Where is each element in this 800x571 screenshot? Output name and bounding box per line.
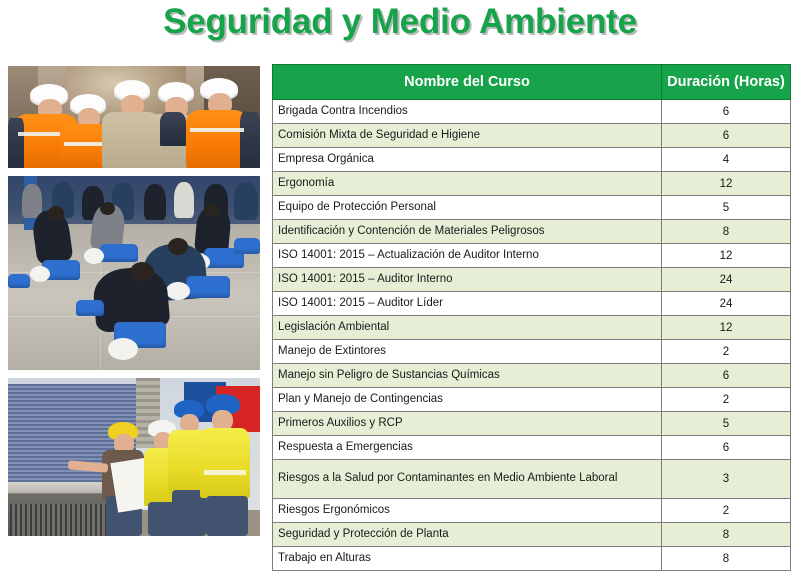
table-row: Brigada Contra Incendios 6 bbox=[273, 100, 791, 124]
photo-site-inspection bbox=[8, 378, 260, 536]
photo-cpr-training bbox=[8, 176, 260, 370]
course-hours: 2 bbox=[662, 388, 791, 412]
course-name: Respuesta a Emergencias bbox=[273, 436, 662, 460]
course-hours: 8 bbox=[662, 523, 791, 547]
course-hours: 12 bbox=[662, 244, 791, 268]
column-header-duration: Duración (Horas) bbox=[662, 65, 791, 100]
table-row: Comisión Mixta de Seguridad e Higiene 6 bbox=[273, 124, 791, 148]
table-row: Identificación y Contención de Materiale… bbox=[273, 220, 791, 244]
photo-workers-hardhats bbox=[8, 66, 260, 168]
table-row: Riesgos Ergonómicos 2 bbox=[273, 499, 791, 523]
course-hours: 6 bbox=[662, 100, 791, 124]
course-hours: 6 bbox=[662, 436, 791, 460]
course-hours: 2 bbox=[662, 340, 791, 364]
table-body: Brigada Contra Incendios 6 Comisión Mixt… bbox=[273, 100, 791, 571]
course-name: Manejo de Extintores bbox=[273, 340, 662, 364]
table-row: ISO 14001: 2015 – Auditor Interno 24 bbox=[273, 268, 791, 292]
course-name: Manejo sin Peligro de Sustancias Química… bbox=[273, 364, 662, 388]
table-row: Ergonomía 12 bbox=[273, 172, 791, 196]
course-name: Plan y Manejo de Contingencias bbox=[273, 388, 662, 412]
course-name: Ergonomía bbox=[273, 172, 662, 196]
table-row: Seguridad y Protección de Planta 8 bbox=[273, 523, 791, 547]
table-row: Manejo de Extintores 2 bbox=[273, 340, 791, 364]
courses-table: Nombre del Curso Duración (Horas) Brigad… bbox=[272, 64, 791, 571]
course-hours: 4 bbox=[662, 148, 791, 172]
table-row: ISO 14001: 2015 – Auditor Líder 24 bbox=[273, 292, 791, 316]
course-name: ISO 14001: 2015 – Actualización de Audit… bbox=[273, 244, 662, 268]
course-hours: 8 bbox=[662, 220, 791, 244]
table-row: Trabajo en Alturas 8 bbox=[273, 547, 791, 571]
table-row: Manejo sin Peligro de Sustancias Química… bbox=[273, 364, 791, 388]
page-title: Seguridad y Medio Ambiente bbox=[0, 2, 800, 42]
course-name: Riesgos Ergonómicos bbox=[273, 499, 662, 523]
course-hours: 5 bbox=[662, 412, 791, 436]
course-hours: 8 bbox=[662, 547, 791, 571]
course-name: Equipo de Protección Personal bbox=[273, 196, 662, 220]
course-name: Riesgos a la Salud por Contaminantes en … bbox=[273, 460, 662, 499]
course-name: Legislación Ambiental bbox=[273, 316, 662, 340]
table-header: Nombre del Curso Duración (Horas) bbox=[273, 65, 791, 100]
table-row: Empresa Orgánica 4 bbox=[273, 148, 791, 172]
column-header-course: Nombre del Curso bbox=[273, 65, 662, 100]
course-hours: 6 bbox=[662, 124, 791, 148]
course-name: Seguridad y Protección de Planta bbox=[273, 523, 662, 547]
course-hours: 12 bbox=[662, 172, 791, 196]
course-hours: 24 bbox=[662, 292, 791, 316]
course-name: Identificación y Contención de Materiale… bbox=[273, 220, 662, 244]
course-hours: 3 bbox=[662, 460, 791, 499]
table-row: Plan y Manejo de Contingencias 2 bbox=[273, 388, 791, 412]
course-hours: 6 bbox=[662, 364, 791, 388]
table-row: Legislación Ambiental 12 bbox=[273, 316, 791, 340]
course-hours: 24 bbox=[662, 268, 791, 292]
course-name: Comisión Mixta de Seguridad e Higiene bbox=[273, 124, 662, 148]
course-name: Empresa Orgánica bbox=[273, 148, 662, 172]
course-hours: 2 bbox=[662, 499, 791, 523]
course-name: ISO 14001: 2015 – Auditor Líder bbox=[273, 292, 662, 316]
table-row: ISO 14001: 2015 – Actualización de Audit… bbox=[273, 244, 791, 268]
table-row: Primeros Auxilios y RCP 5 bbox=[273, 412, 791, 436]
course-hours: 12 bbox=[662, 316, 791, 340]
table-header-row: Nombre del Curso Duración (Horas) bbox=[273, 65, 791, 100]
course-name: Brigada Contra Incendios bbox=[273, 100, 662, 124]
table-row: Riesgos a la Salud por Contaminantes en … bbox=[273, 460, 791, 499]
course-hours: 5 bbox=[662, 196, 791, 220]
course-name: Primeros Auxilios y RCP bbox=[273, 412, 662, 436]
course-name: ISO 14001: 2015 – Auditor Interno bbox=[273, 268, 662, 292]
course-name: Trabajo en Alturas bbox=[273, 547, 662, 571]
table-row: Respuesta a Emergencias 6 bbox=[273, 436, 791, 460]
table-row: Equipo de Protección Personal 5 bbox=[273, 196, 791, 220]
